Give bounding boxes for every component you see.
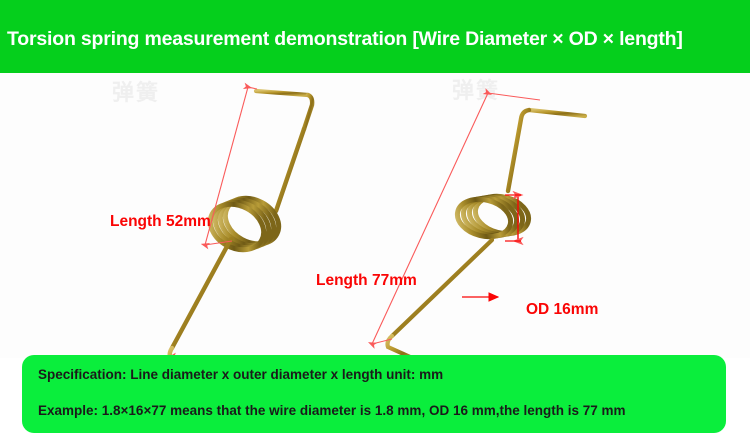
- header-banner: Torsion spring measurement demonstration…: [0, 0, 750, 73]
- spring-coil-left: [202, 189, 286, 258]
- product-photo-area: 弹簧 弹簧: [0, 73, 750, 358]
- spring-coil-right: [453, 191, 532, 242]
- label-length-52: Length 52mm: [110, 213, 211, 231]
- spec-line-example: Example: 1.8×16×77 means that the wire d…: [38, 404, 726, 418]
- label-length-77: Length 77mm: [316, 272, 417, 290]
- spec-line-specification: Specification: Line diameter x outer dia…: [38, 368, 726, 382]
- label-od-16: OD 16mm: [526, 301, 598, 319]
- specification-panel: Specification: Line diameter x outer dia…: [22, 355, 726, 433]
- page-title: Torsion spring measurement demonstration…: [0, 30, 683, 50]
- screenshot-root: Torsion spring measurement demonstration…: [0, 0, 750, 448]
